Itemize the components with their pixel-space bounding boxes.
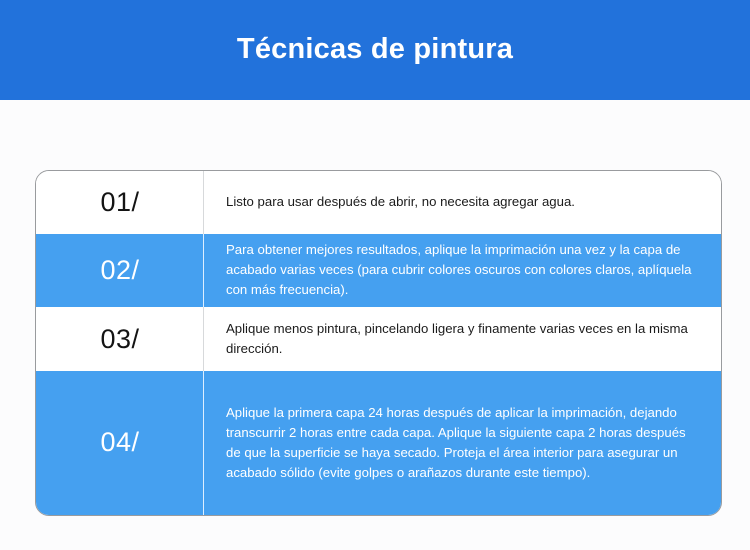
step-number-cell: 02/ bbox=[36, 234, 204, 308]
step-number-cell: 01/ bbox=[36, 171, 204, 234]
step-text-cell: Para obtener mejores resultados, aplique… bbox=[204, 234, 721, 308]
step-text-cell: Aplique menos pintura, pincelando ligera… bbox=[204, 307, 721, 371]
page-header: Técnicas de pintura bbox=[0, 0, 750, 100]
table-row: 04/ Aplique la primera capa 24 horas des… bbox=[36, 371, 721, 515]
step-number-label: 03/ bbox=[100, 326, 139, 353]
step-text-cell: Listo para usar después de abrir, no nec… bbox=[204, 171, 721, 234]
step-number-label: 04/ bbox=[100, 429, 139, 456]
step-text-cell: Aplique la primera capa 24 horas después… bbox=[204, 371, 721, 515]
column-divider bbox=[203, 371, 205, 515]
column-divider bbox=[203, 234, 205, 308]
instructions-card: 01/ Listo para usar después de abrir, no… bbox=[35, 170, 722, 516]
column-divider bbox=[203, 171, 205, 234]
step-text: Listo para usar después de abrir, no nec… bbox=[226, 192, 575, 212]
step-text: Aplique menos pintura, pincelando ligera… bbox=[226, 319, 699, 359]
column-divider bbox=[203, 307, 205, 371]
step-number-label: 01/ bbox=[100, 189, 139, 216]
table-row: 03/ Aplique menos pintura, pincelando li… bbox=[36, 307, 721, 371]
step-text: Para obtener mejores resultados, aplique… bbox=[226, 240, 699, 300]
step-text: Aplique la primera capa 24 horas después… bbox=[226, 403, 699, 483]
table-row: 02/ Para obtener mejores resultados, apl… bbox=[36, 234, 721, 308]
page-title: Técnicas de pintura bbox=[237, 35, 513, 66]
step-number-label: 02/ bbox=[100, 257, 139, 284]
step-number-cell: 03/ bbox=[36, 307, 204, 371]
step-number-cell: 04/ bbox=[36, 371, 204, 515]
table-row: 01/ Listo para usar después de abrir, no… bbox=[36, 171, 721, 234]
